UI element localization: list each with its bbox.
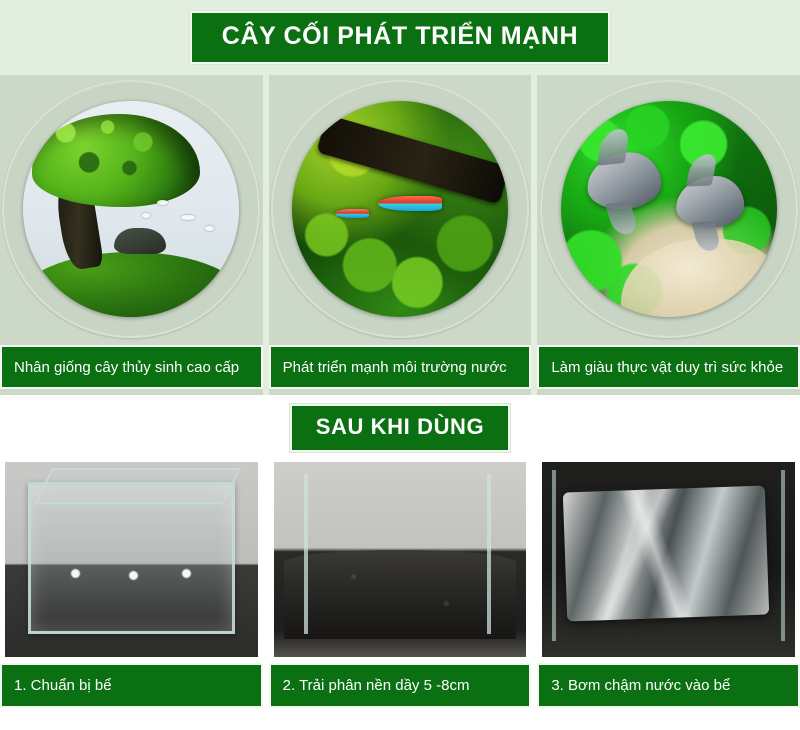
plants-caption-2: Phát triển mạnh môi trường nước [269, 345, 532, 389]
usage-section-title: SAU KHI DÙNG [290, 404, 511, 452]
glass-pane-left [304, 474, 308, 634]
glass-pane-left [552, 470, 556, 642]
foreground-grass [23, 252, 239, 317]
glass-pane-right [487, 474, 491, 634]
substrate-soil [284, 550, 516, 640]
usage-step-1[interactable] [0, 457, 263, 662]
fish-icon [205, 226, 214, 231]
plants-caption-1: Nhân giống cây thủy sinh cao cấp [0, 345, 263, 389]
usage-caption-3: 3. Bơm chậm nước vào bể [537, 663, 800, 708]
fish-icon [181, 215, 195, 220]
fish-icon [142, 213, 150, 218]
fish-icon [335, 209, 369, 218]
light-reflection [71, 569, 80, 578]
plants-section-title: CÂY CỐI PHÁT TRIỂN MẠNH [190, 11, 610, 64]
usage-banner-row: SAU KHI DÙNG [0, 395, 800, 461]
angelfish-plants-photo [561, 101, 777, 317]
usage-section: SAU KHI DÙNG 1. [0, 395, 800, 730]
planted-tank-tetra-photo [292, 101, 508, 317]
usage-step-3[interactable] [537, 457, 800, 662]
usage-photo-row [0, 457, 800, 662]
plastic-sheet-watering-photo [542, 462, 795, 657]
circle-frame-1 [2, 80, 260, 338]
substrate-layer-photo [274, 462, 527, 657]
tree-canopy [32, 114, 200, 207]
glass-pane-right [781, 470, 785, 642]
usage-caption-1: 1. Chuẩn bị bể [0, 663, 263, 708]
light-reflection [129, 571, 138, 580]
fish-icon [157, 200, 168, 205]
plants-section: CÂY CỐI PHÁT TRIỂN MẠNH [0, 0, 800, 395]
plants-caption-row: Nhân giống cây thủy sinh cao cấp Phát tr… [0, 345, 800, 389]
bonsai-aquascape-photo [23, 101, 239, 317]
empty-glass-tank-photo [5, 462, 258, 657]
usage-caption-row: 1. Chuẩn bị bể 2. Trải phân nền dầy 5 -8… [0, 663, 800, 708]
circle-frame-2 [271, 80, 529, 338]
plastic-sheet [563, 486, 769, 622]
glass-tank [28, 482, 235, 634]
aquascape-rock [114, 228, 166, 254]
usage-caption-2: 2. Trải phân nền dầy 5 -8cm [269, 663, 532, 708]
plants-banner-row: CÂY CỐI PHÁT TRIỂN MẠNH [0, 0, 800, 75]
fish-icon [378, 196, 442, 211]
plants-caption-3: Làm giàu thực vật duy trì sức khỏe [537, 345, 800, 389]
circle-frame-3 [540, 80, 798, 338]
usage-step-2[interactable] [269, 457, 532, 662]
